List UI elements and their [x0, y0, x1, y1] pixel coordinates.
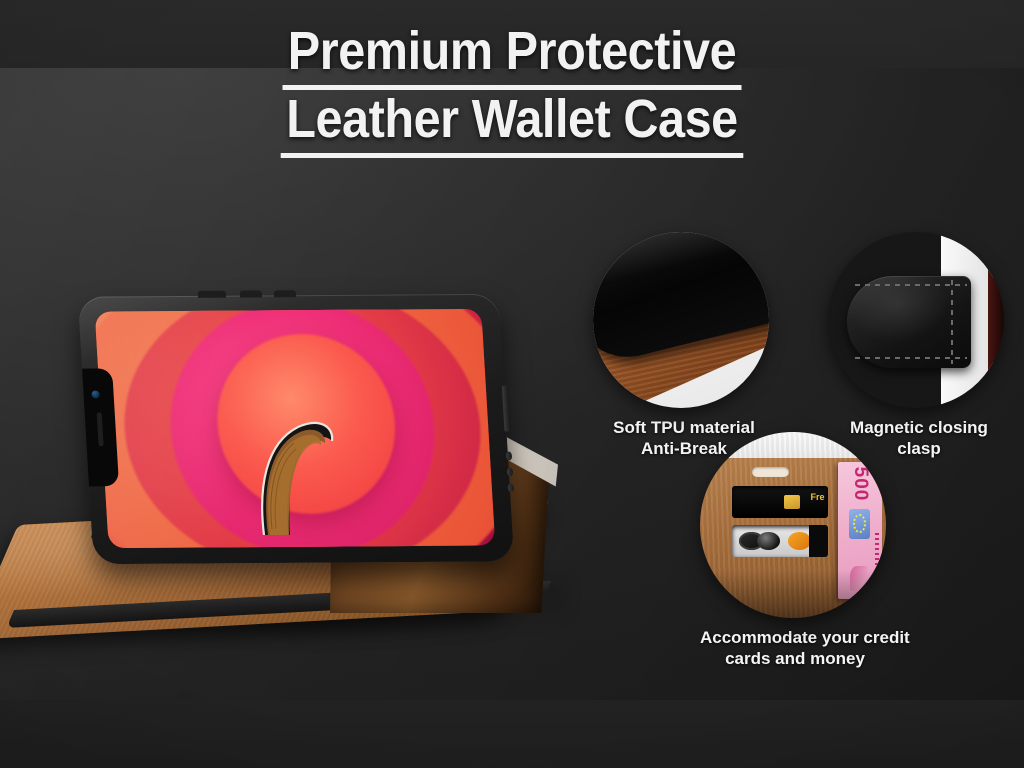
- volume-button-cutout: [506, 451, 513, 460]
- magnetic-strap: [847, 276, 970, 368]
- tpu-corner-closeup: [593, 232, 769, 408]
- stitching-line: [855, 284, 967, 286]
- earpiece-speaker: [97, 412, 104, 446]
- dark-edge-strip: [988, 232, 1004, 408]
- magnetic-clasp-closeup: [828, 232, 1004, 408]
- card-slots-closeup: Fre 500: [700, 432, 886, 618]
- card-dark-end: [809, 525, 828, 557]
- closing-flap: [228, 417, 348, 535]
- feature-clasp: Magnetic closing clasp: [828, 232, 1010, 459]
- feature-cards-caption: Accommodate your credit cards and money: [700, 627, 890, 669]
- stitching-line: [951, 280, 953, 364]
- case-bezel-bump: [240, 290, 262, 297]
- case-bezel-bump: [274, 290, 296, 297]
- product-image-canvas: Premium Protective Leather Wallet Case: [0, 0, 1024, 768]
- eu-stars-icon: [853, 514, 866, 533]
- card-slot-lower: [732, 525, 829, 557]
- feature-tpu: Soft TPU material Anti-Break: [593, 232, 775, 459]
- page-title: Premium Protective Leather Wallet Case: [0, 22, 1024, 158]
- title-line-2: Leather Wallet Case: [51, 90, 973, 158]
- hero-product-photo: [0, 195, 600, 685]
- stitching-line: [855, 357, 967, 359]
- banknote-value: 500: [849, 466, 871, 501]
- power-button-cutout: [502, 386, 511, 432]
- volume-button-cutout: [508, 483, 515, 492]
- front-camera-icon: [91, 390, 99, 398]
- caption-line-1: Accommodate your credit: [700, 627, 890, 648]
- case-bezel-bump: [198, 291, 226, 298]
- card-graphic-lens: [757, 532, 780, 550]
- card-chip-icon: [784, 495, 800, 510]
- volume-button-cutout: [507, 467, 514, 476]
- eu-flag-panel: [849, 509, 870, 539]
- thumb-notch: [752, 467, 789, 476]
- card-label: Fre: [810, 492, 824, 502]
- card-graphic-circle: [788, 532, 811, 550]
- caption-line-2: cards and money: [700, 648, 890, 669]
- card-slot-upper: Fre: [732, 486, 829, 518]
- title-line-1: Premium Protective: [51, 22, 973, 90]
- inset-shadow: [700, 570, 886, 618]
- feature-cards: Fre 500 Accommodate your credit cards an…: [700, 432, 890, 669]
